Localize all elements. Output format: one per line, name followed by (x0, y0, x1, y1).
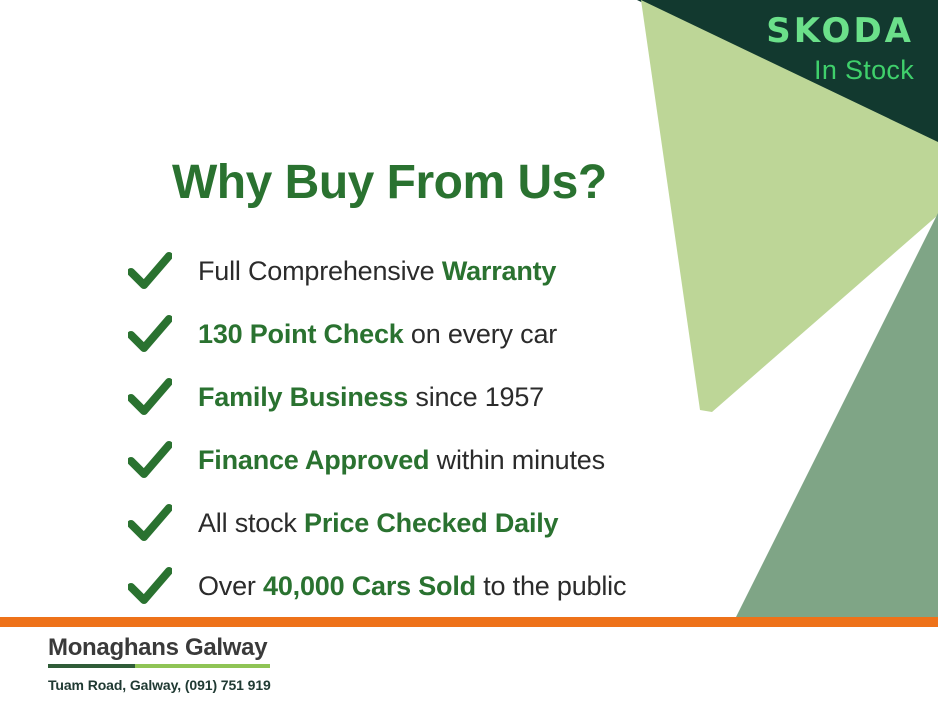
benefits-list: Full Comprehensive Warranty 130 Point Ch… (128, 240, 768, 618)
benefit-text: Full Comprehensive Warranty (198, 256, 556, 287)
list-item: Family Business since 1957 (128, 366, 768, 429)
page-title: Why Buy From Us? (172, 155, 607, 210)
list-item: Full Comprehensive Warranty (128, 240, 768, 303)
benefit-highlight: Family Business (198, 382, 408, 412)
check-icon (128, 567, 172, 607)
brand-subtitle: In Stock (766, 57, 914, 84)
dealer-name-underline (48, 664, 270, 668)
skoda-wordmark: SKODA (766, 14, 914, 48)
benefit-text: Over 40,000 Cars Sold to the public (198, 571, 626, 602)
underline-light-segment (135, 664, 270, 668)
benefit-text: Family Business since 1957 (198, 382, 544, 413)
footer-block: Monaghans Galway Tuam Road, Galway, (091… (48, 634, 271, 693)
benefit-post: on every car (404, 319, 557, 349)
list-item: Finance Approved within minutes (128, 429, 768, 492)
check-icon (128, 504, 172, 544)
underline-dark-segment (48, 664, 135, 668)
check-icon (128, 252, 172, 292)
benefit-highlight: Warranty (442, 256, 556, 286)
benefit-highlight: Finance Approved (198, 445, 429, 475)
check-icon (128, 441, 172, 481)
benefit-pre: Full Comprehensive (198, 256, 442, 286)
check-icon (128, 315, 172, 355)
list-item: All stock Price Checked Daily (128, 492, 768, 555)
list-item: Over 40,000 Cars Sold to the public (128, 555, 768, 618)
orange-divider (0, 617, 938, 627)
benefit-post: within minutes (429, 445, 605, 475)
benefit-pre: Over (198, 571, 263, 601)
promo-poster: SKODA In Stock Why Buy From Us? Full Com… (0, 0, 938, 704)
benefit-text: All stock Price Checked Daily (198, 508, 558, 539)
list-item: 130 Point Check on every car (128, 303, 768, 366)
check-icon (128, 378, 172, 418)
brand-block: SKODA In Stock (766, 14, 914, 84)
benefit-pre: All stock (198, 508, 304, 538)
benefit-text: Finance Approved within minutes (198, 445, 605, 476)
dealer-name: Monaghans Galway (48, 634, 271, 662)
benefit-highlight: Price Checked Daily (304, 508, 558, 538)
benefit-text: 130 Point Check on every car (198, 319, 557, 350)
dealer-address: Tuam Road, Galway, (091) 751 919 (48, 677, 271, 693)
benefit-highlight: 40,000 Cars Sold (263, 571, 476, 601)
benefit-highlight: 130 Point Check (198, 319, 404, 349)
benefit-post: to the public (476, 571, 626, 601)
benefit-post: since 1957 (408, 382, 544, 412)
